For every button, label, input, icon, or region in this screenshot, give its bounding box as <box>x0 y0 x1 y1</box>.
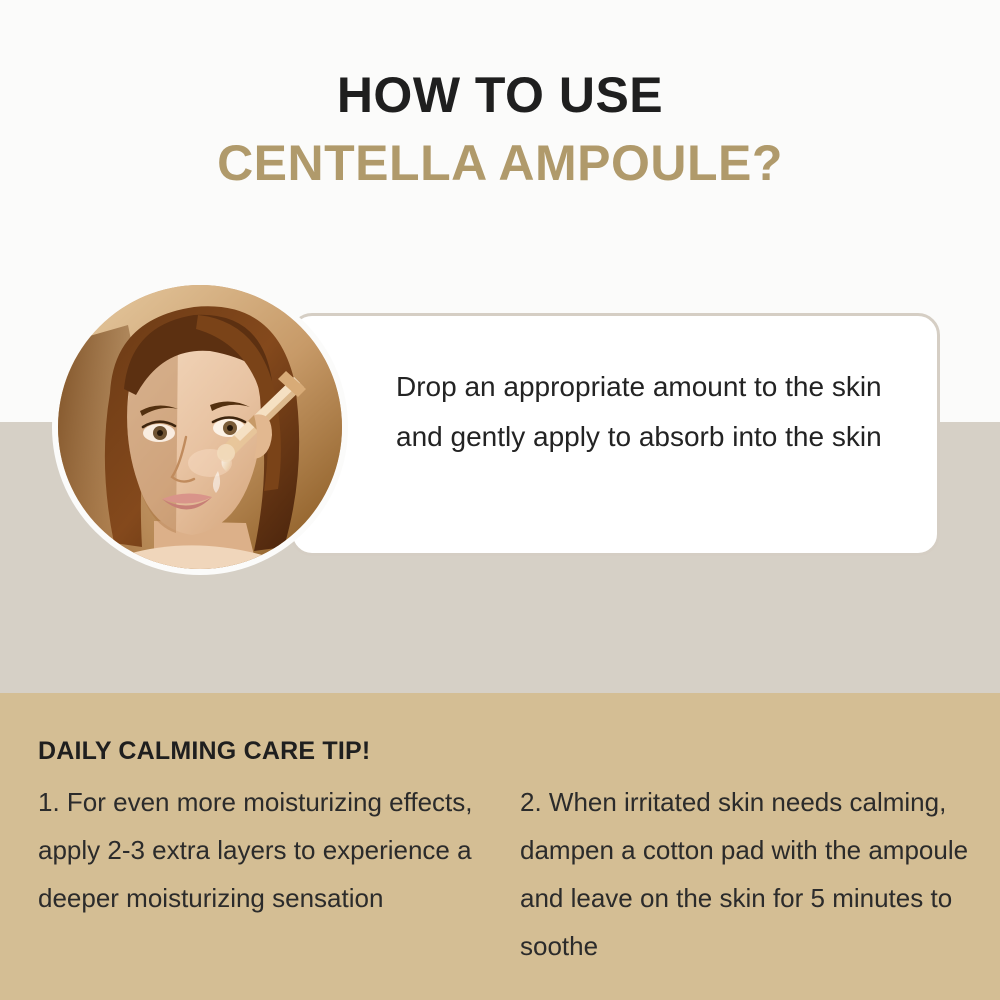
model-photo-illustration <box>58 285 342 569</box>
tip-heading: DAILY CALMING CARE TIP! <box>38 737 370 766</box>
tip-item-1: 1. For even more moisturizing effects, a… <box>38 778 498 922</box>
model-photo-circle <box>52 279 348 575</box>
instruction-callout: Drop an appropriate amount to the skin a… <box>290 313 940 556</box>
tip-item-2: 2. When irritated skin needs calming, da… <box>520 778 980 970</box>
daily-tip-section: DAILY CALMING CARE TIP! 1. For even more… <box>0 693 1000 1000</box>
page-header: HOW TO USE CENTELLA AMPOULE? <box>0 0 1000 192</box>
model-photo <box>58 285 342 569</box>
page-subtitle: CENTELLA AMPOULE? <box>0 124 1000 192</box>
page-title: HOW TO USE <box>0 0 1000 124</box>
instruction-text: Drop an appropriate amount to the skin a… <box>396 362 896 462</box>
